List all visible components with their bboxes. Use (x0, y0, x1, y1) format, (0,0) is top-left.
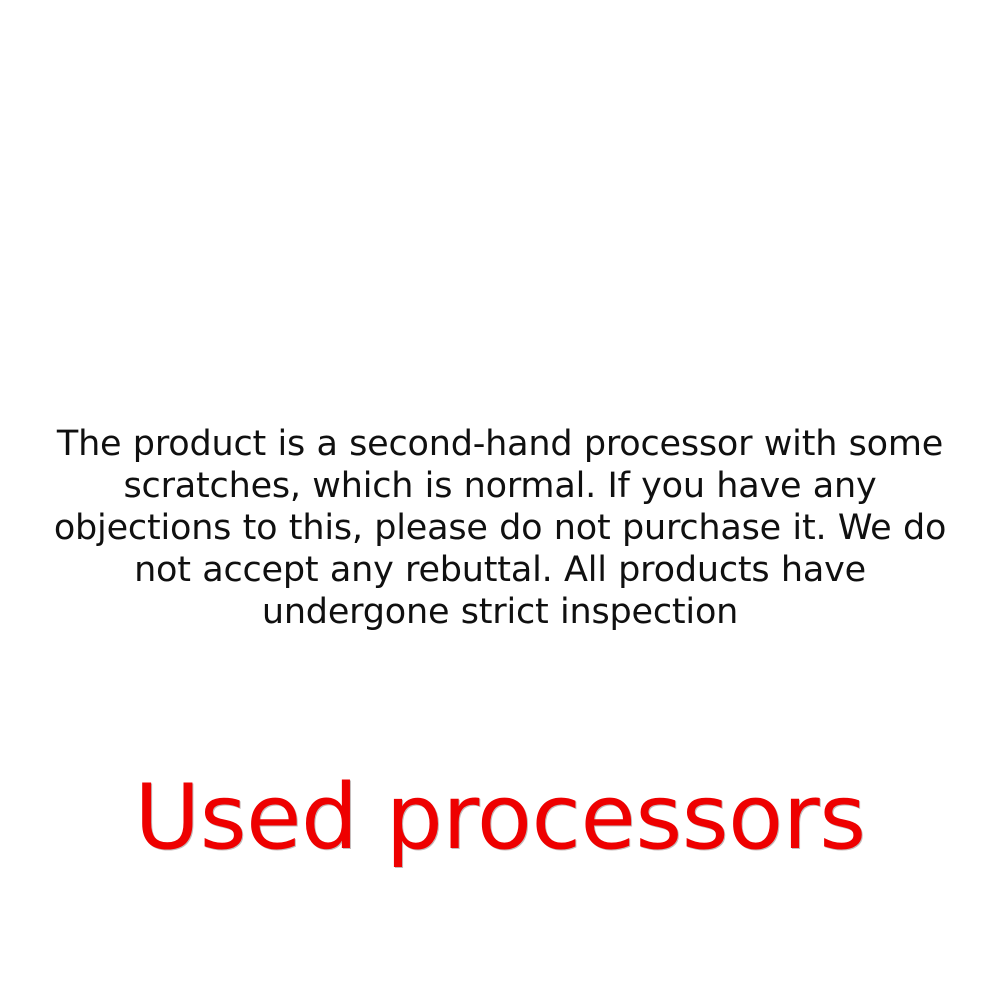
disclaimer-text: The product is a second-hand processor w… (35, 423, 965, 633)
page-title: Used processors (30, 768, 970, 868)
product-notice-page: The product is a second-hand processor w… (0, 0, 1000, 1000)
